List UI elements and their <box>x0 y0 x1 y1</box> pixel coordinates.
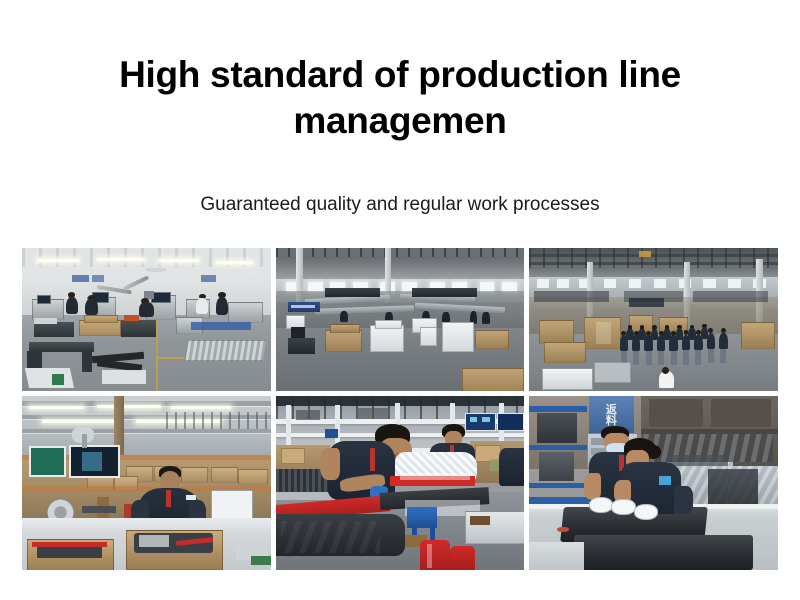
gallery-photo-2[interactable] <box>276 248 525 391</box>
gallery-photo-4[interactable] <box>22 396 271 570</box>
photo-6-scene: 返 料 <box>529 396 778 570</box>
gallery-photo-3[interactable] <box>529 248 778 391</box>
gallery-photo-1[interactable] <box>22 248 271 391</box>
photo-2-scene <box>276 248 525 391</box>
photo-gallery-grid: 返 料 <box>22 248 778 570</box>
heading-block: High standard of production line managem… <box>0 52 800 144</box>
page-subtitle: Guaranteed quality and regular work proc… <box>0 192 800 218</box>
photo-4-scene <box>22 396 271 570</box>
promotional-banner: High standard of production line managem… <box>0 0 800 600</box>
gallery-photo-6[interactable]: 返 料 <box>529 396 778 570</box>
wall-sign-char-2: 料 <box>606 415 617 427</box>
photo-5-scene <box>276 396 525 570</box>
photo-1-scene <box>22 248 271 391</box>
gallery-photo-5[interactable] <box>276 396 525 570</box>
page-title: High standard of production line managem… <box>90 52 710 144</box>
photo-3-scene <box>529 248 778 391</box>
